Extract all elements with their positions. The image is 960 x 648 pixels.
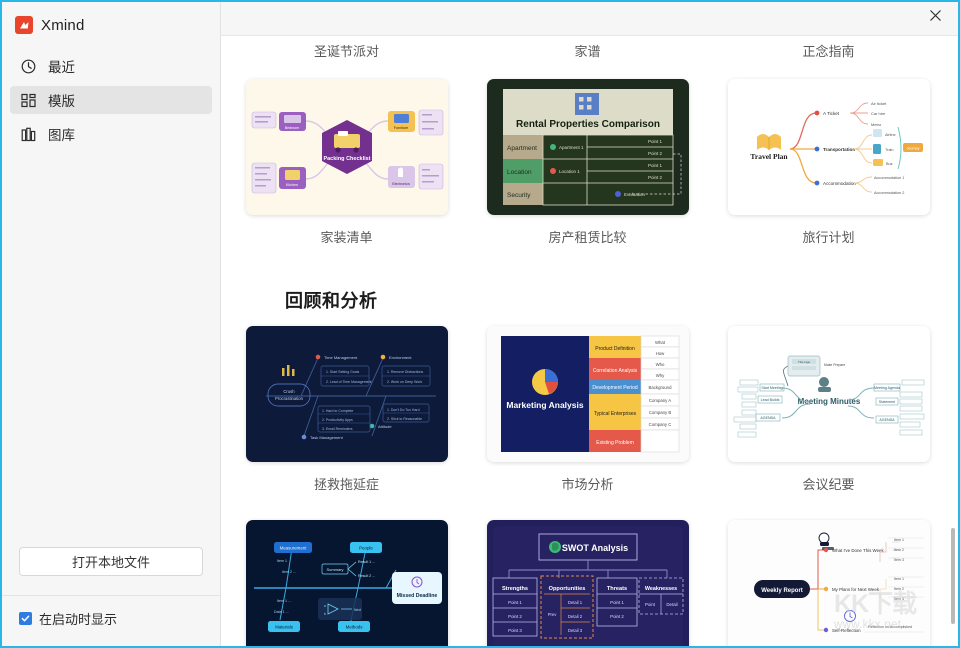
template-thumbnail[interactable]: Marketing Analysis Product Definition Co… xyxy=(487,326,689,462)
svg-text:Typical Enterprises: Typical Enterprises xyxy=(593,411,636,417)
svg-text:Detail 3: Detail 3 xyxy=(567,628,582,633)
svg-text:A Ticket: A Ticket xyxy=(823,111,840,116)
template-thumbnail[interactable]: SWOT Analysis Strengths Point 1 Point 2 xyxy=(487,520,689,646)
svg-text:Evaluation: Evaluation xyxy=(624,192,646,197)
swot-art: SWOT Analysis Strengths Point 1 Point 2 xyxy=(487,520,689,646)
svg-text:Opportunities: Opportunities xyxy=(548,586,585,592)
svg-text:Company C: Company C xyxy=(648,422,671,427)
svg-text:Point 1: Point 1 xyxy=(508,600,522,605)
svg-text:Point: Point xyxy=(644,602,655,607)
sidebar-nav: 最近 模版 xyxy=(2,52,220,154)
svg-text:Detail 2: Detail 2 xyxy=(567,614,582,619)
marketing-analysis-art: Marketing Analysis Product Definition Co… xyxy=(487,326,689,462)
svg-text:Airline: Airline xyxy=(885,133,896,137)
svg-text:Strengths: Strengths xyxy=(501,586,527,592)
svg-text:Missed Deadline: Missed Deadline xyxy=(396,593,437,599)
template-row-2: Crush Procrastination Time Management En… xyxy=(237,326,938,520)
weekly-report-art: Weekly Report What I've Done This Week xyxy=(728,520,930,646)
svg-text:Item 1: Item 1 xyxy=(277,559,287,563)
svg-text:3. Email Reminders: 3. Email Reminders xyxy=(322,427,353,431)
svg-text:Location 1: Location 1 xyxy=(559,169,580,174)
svg-text:Item 2: Item 2 xyxy=(894,587,904,591)
svg-text:1. Remove Distractions: 1. Remove Distractions xyxy=(387,370,423,374)
svg-text:Journey: Journey xyxy=(906,147,919,151)
title-bar xyxy=(221,2,958,36)
svg-text:Product Definition: Product Definition xyxy=(595,346,635,352)
svg-text:Air ticket: Air ticket xyxy=(871,101,887,106)
svg-text:Transportation: Transportation xyxy=(823,147,855,152)
template-caption: 家装清单 xyxy=(320,227,372,246)
svg-text:Travel Plan: Travel Plan xyxy=(750,152,788,161)
svg-text:Title tags: Title tags xyxy=(797,360,810,364)
svg-text:Point 1: Point 1 xyxy=(610,600,624,605)
svg-text:Weaknesses: Weaknesses xyxy=(644,586,676,592)
template-thumbnail[interactable]: Measurement People Materials Methods Sum… xyxy=(246,520,448,646)
show-on-startup-label: 在启动时显示 xyxy=(39,609,117,628)
svg-text:Point 2: Point 2 xyxy=(508,614,522,619)
app-brand: Xmind xyxy=(2,2,220,36)
svg-text:Task Management: Task Management xyxy=(310,435,344,440)
svg-text:Apartment: Apartment xyxy=(507,145,537,152)
sidebar-footer: 打开本地文件 在启动时显示 xyxy=(2,547,220,646)
svg-text:Threats: Threats xyxy=(606,586,626,592)
template-card-meeting-minutes[interactable]: Meeting Minutes Title tags xyxy=(719,326,938,520)
svg-text:Marketing Analysis: Marketing Analysis xyxy=(506,400,583,410)
xmind-start-window: Xmind 最近 xyxy=(0,0,960,648)
svg-text:How: How xyxy=(655,351,664,356)
svg-text:Start Meeting: Start Meeting xyxy=(761,386,782,390)
list-item: 圣诞节派对 xyxy=(237,41,456,79)
svg-text:Detail 1: Detail 1 xyxy=(567,600,582,605)
template-card-marketing-analysis[interactable]: Marketing Analysis Product Definition Co… xyxy=(478,326,697,520)
svg-text:Who: Who xyxy=(655,362,664,367)
svg-text:Apartment 1: Apartment 1 xyxy=(559,145,584,150)
svg-text:Materials: Materials xyxy=(275,625,294,630)
template-thumbnail[interactable]: Packing Checklist Bedroom Kitchen xyxy=(246,79,448,215)
template-card-weekly-report[interactable]: Weekly Report What I've Done This Week xyxy=(719,520,938,646)
template-caption: 会议纪要 xyxy=(802,474,854,493)
sidebar-item-library[interactable]: 图库 xyxy=(10,120,212,148)
show-on-startup-checkbox[interactable] xyxy=(19,612,32,625)
meeting-minutes-art: Meeting Minutes Title tags xyxy=(728,326,930,462)
close-button[interactable] xyxy=(912,2,958,34)
xmind-logo-icon xyxy=(15,16,33,34)
svg-text:Item 1 ...: Item 1 ... xyxy=(277,599,291,603)
svg-text:Point 1: Point 1 xyxy=(647,163,662,168)
svg-text:Point 2: Point 2 xyxy=(647,175,662,180)
template-caption: 旅行计划 xyxy=(802,227,854,246)
template-caption: 圣诞节派对 xyxy=(314,41,379,60)
svg-text:Electronics: Electronics xyxy=(392,182,410,186)
template-card-missed-deadline[interactable]: Measurement People Materials Methods Sum… xyxy=(237,520,456,646)
rental-comparison-art: Rental Properties Comparison Apartment L… xyxy=(487,79,689,215)
list-item: 家谱 xyxy=(478,41,697,79)
template-caption: 正念指南 xyxy=(802,41,854,60)
template-row-3: Measurement People Materials Methods Sum… xyxy=(237,520,938,646)
svg-text:Metro: Metro xyxy=(871,122,882,127)
svg-text:Reflection on Accomplished: Reflection on Accomplished xyxy=(868,625,912,629)
sidebar: Xmind 最近 xyxy=(2,2,221,646)
svg-text:Rental Properties Comparison: Rental Properties Comparison xyxy=(516,119,660,130)
svg-text:Train: Train xyxy=(885,148,894,152)
svg-text:Item 3: Item 3 xyxy=(894,597,904,601)
svg-text:My Plans for Next Week: My Plans for Next Week xyxy=(832,587,880,592)
svg-text:Development Period: Development Period xyxy=(592,385,638,391)
svg-text:Statement: Statement xyxy=(878,400,894,404)
template-card-crush-procrastination[interactable]: Crush Procrastination Time Management En… xyxy=(237,326,456,520)
svg-text:Make Prepare: Make Prepare xyxy=(824,363,845,367)
svg-text:Weekly Report: Weekly Report xyxy=(761,588,803,594)
partial-row-captions: 圣诞节派对 家谱 正念指南 xyxy=(237,35,938,79)
svg-text:Detail: Detail xyxy=(666,602,677,607)
svg-text:2. Work on Deep Work: 2. Work on Deep Work xyxy=(387,380,423,384)
svg-text:Data 1 ...: Data 1 ... xyxy=(274,610,289,614)
template-caption: 拯救拖延症 xyxy=(314,474,379,493)
svg-text:AGENDA: AGENDA xyxy=(760,416,776,420)
fishbone-blue-art: Measurement People Materials Methods Sum… xyxy=(246,520,448,646)
template-card-rental-comparison[interactable]: Rental Properties Comparison Apartment L… xyxy=(478,79,697,273)
template-thumbnail[interactable]: Crush Procrastination Time Management En… xyxy=(246,326,448,462)
template-card-packing-checklist[interactable]: Packing Checklist Bedroom Kitchen xyxy=(237,79,456,273)
svg-text:Item 1: Item 1 xyxy=(894,577,904,581)
svg-text:SWOT Analysis: SWOT Analysis xyxy=(561,543,627,553)
svg-text:1. Start Setting Goals: 1. Start Setting Goals xyxy=(326,370,360,374)
template-card-swot-analysis[interactable]: SWOT Analysis Strengths Point 1 Point 2 xyxy=(478,520,697,646)
svg-text:Background: Background xyxy=(648,385,672,390)
sidebar-item-label: 最近 xyxy=(48,56,75,76)
clock-icon xyxy=(20,58,37,75)
template-thumbnail[interactable]: Weekly Report What I've Done This Week xyxy=(728,520,930,646)
svg-text:Car hire: Car hire xyxy=(871,111,886,116)
svg-text:Result 2 ...: Result 2 ... xyxy=(358,574,375,578)
svg-text:Environment: Environment xyxy=(389,355,412,360)
svg-text:Methods: Methods xyxy=(345,625,363,630)
svg-text:Summary: Summary xyxy=(326,567,343,572)
svg-text:a: a xyxy=(324,604,326,608)
svg-text:Bus: Bus xyxy=(886,162,893,166)
svg-text:Company B: Company B xyxy=(648,410,671,415)
template-row-1: Packing Checklist Bedroom Kitchen xyxy=(237,79,938,273)
open-local-file-button[interactable]: 打开本地文件 xyxy=(19,547,203,576)
svg-text:b: b xyxy=(324,612,326,616)
template-card-travel-plan[interactable]: Travel Plan A Ticket Transportation xyxy=(719,79,938,273)
main-panel: 圣诞节派对 家谱 正念指南 xyxy=(221,2,958,646)
svg-text:Accommodation: Accommodation xyxy=(823,181,856,186)
open-local-file-label: 打开本地文件 xyxy=(72,552,150,571)
svg-text:Packing Checklist: Packing Checklist xyxy=(323,156,370,162)
svg-text:Measurement: Measurement xyxy=(279,546,307,551)
svg-text:Accommodation 2: Accommodation 2 xyxy=(874,191,904,195)
close-icon xyxy=(929,9,942,27)
sidebar-item-recent[interactable]: 最近 xyxy=(10,52,212,80)
svg-text:Point 1: Point 1 xyxy=(647,139,662,144)
packing-checklist-art: Packing Checklist Bedroom Kitchen xyxy=(246,79,448,215)
sidebar-item-label: 图库 xyxy=(48,124,75,144)
svg-text:Security: Security xyxy=(507,192,531,199)
svg-text:Item 2: Item 2 xyxy=(894,548,904,552)
svg-text:Self-Reflection: Self-Reflection xyxy=(832,628,861,633)
svg-text:What I've Done This Week: What I've Done This Week xyxy=(832,548,884,553)
svg-text:Result 1 ...: Result 1 ... xyxy=(358,560,375,564)
svg-text:2. Lead of Time Management: 2. Lead of Time Management xyxy=(326,380,372,384)
svg-text:Why: Why xyxy=(655,373,664,378)
svg-text:Point 2: Point 2 xyxy=(647,151,662,156)
svg-text:Point 3: Point 3 xyxy=(508,628,522,633)
template-caption: 家谱 xyxy=(574,41,600,60)
sidebar-item-label: 模版 xyxy=(48,90,75,110)
svg-text:Accommodation 1: Accommodation 1 xyxy=(874,176,904,180)
svg-text:Location: Location xyxy=(507,169,532,176)
template-thumbnail[interactable]: Rental Properties Comparison Apartment L… xyxy=(487,79,689,215)
svg-text:Next: Next xyxy=(354,608,361,612)
travel-plan-art: Travel Plan A Ticket Transportation xyxy=(728,79,930,215)
svg-text:Item 2 ...: Item 2 ... xyxy=(282,570,296,574)
svg-text:Attitude: Attitude xyxy=(378,424,392,429)
svg-text:Item 1: Item 1 xyxy=(894,538,904,542)
sidebar-item-templates[interactable]: 模版 xyxy=(10,86,212,114)
svg-text:Company A: Company A xyxy=(648,398,670,403)
svg-text:Procrastination: Procrastination xyxy=(275,396,304,401)
svg-text:Time Management: Time Management xyxy=(324,355,358,360)
fishbone-dark-art: Crush Procrastination Time Management En… xyxy=(246,326,448,462)
svg-text:AGENDA: AGENDA xyxy=(879,418,895,422)
svg-text:Existing Problem: Existing Problem xyxy=(596,440,634,446)
svg-text:Crush: Crush xyxy=(283,389,295,394)
show-on-startup-row[interactable]: 在启动时显示 xyxy=(2,596,220,646)
svg-text:Furniture: Furniture xyxy=(393,126,407,130)
svg-text:2. Productivity Apps: 2. Productivity Apps xyxy=(322,418,353,422)
list-item: 正念指南 xyxy=(719,41,938,79)
library-icon xyxy=(20,126,37,143)
svg-text:People: People xyxy=(359,546,373,551)
svg-text:1. Hard to Complete: 1. Hard to Complete xyxy=(322,409,353,413)
vertical-scrollbar[interactable] xyxy=(951,528,955,624)
svg-text:Prev: Prev xyxy=(547,612,557,617)
svg-text:Point 2: Point 2 xyxy=(610,614,624,619)
template-thumbnail[interactable]: Meeting Minutes Title tags xyxy=(728,326,930,462)
svg-text:Correlation Analysis: Correlation Analysis xyxy=(592,368,637,374)
section-title-review-analysis: 回顾和分析 xyxy=(285,287,938,313)
template-caption: 市场分析 xyxy=(561,474,613,493)
template-scroll-area[interactable]: 圣诞节派对 家谱 正念指南 xyxy=(221,35,958,646)
svg-text:Item 3: Item 3 xyxy=(894,558,904,562)
svg-text:Lead Builds: Lead Builds xyxy=(760,398,779,402)
template-thumbnail[interactable]: Travel Plan A Ticket Transportation xyxy=(728,79,930,215)
svg-text:1. Don't Do Too Hard: 1. Don't Do Too Hard xyxy=(387,408,420,412)
svg-text:2. Stick to Reasonable: 2. Stick to Reasonable xyxy=(387,417,422,421)
svg-text:What: What xyxy=(654,340,665,345)
svg-text:Bedroom: Bedroom xyxy=(284,126,299,130)
template-caption: 房产租赁比较 xyxy=(548,227,626,246)
svg-text:Meeting Agenda: Meeting Agenda xyxy=(874,386,900,390)
grid-icon xyxy=(20,92,37,109)
app-name: Xmind xyxy=(41,17,85,34)
svg-text:Kitchen: Kitchen xyxy=(286,183,298,187)
